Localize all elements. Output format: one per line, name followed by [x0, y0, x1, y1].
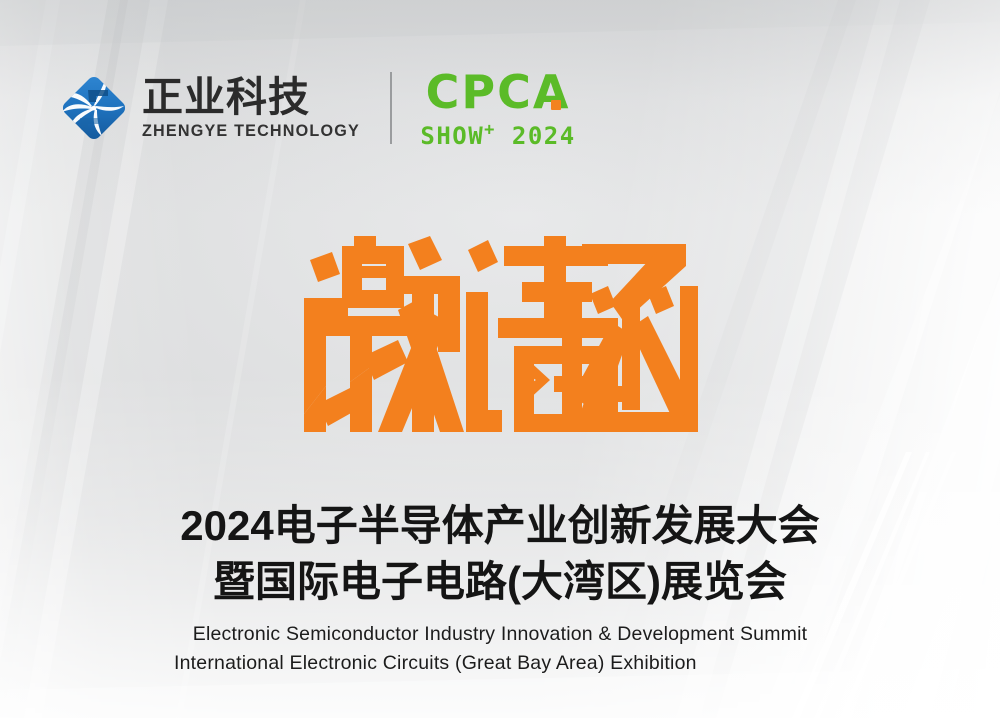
invitation-wordmark-icon [302, 236, 698, 432]
title-english-line2: International Electronic Circuits (Great… [0, 649, 1000, 678]
cpca-accent-dot-icon [551, 100, 561, 110]
cpca-main-text: CPCA [426, 68, 571, 116]
title-block: 2024电子半导体产业创新发展大会 暨国际电子电路(大湾区)展览会 Electr… [0, 500, 1000, 678]
title-english-line1: Electronic Semiconductor Industry Innova… [0, 620, 1000, 649]
cpca-year-label: 2024 [512, 122, 576, 150]
zhengye-wordmark: 正业科技 ZHENGYE TECHNOLOGY [142, 72, 364, 144]
zhengye-name-en: ZHENGYE TECHNOLOGY [142, 122, 360, 141]
hero-wordmark-invitation [0, 236, 1000, 432]
cpca-event-logo: CPCA SHOW+ 2024 [420, 70, 575, 146]
title-chinese-line2: 暨国际电子电路(大湾区)展览会 [0, 556, 1000, 608]
cpca-sub-text: SHOW+ 2024 [420, 117, 575, 149]
invitation-poster: 正业科技 ZHENGYE TECHNOLOGY CPCA SHOW+ 2024 [0, 0, 1000, 718]
zhengye-name-cn: 正业科技 [142, 75, 364, 119]
title-english-line1-text: Electronic Semiconductor Industry Innova… [193, 623, 808, 645]
cpca-show-label: SHOW [420, 122, 484, 150]
title-chinese-line1: 2024电子半导体产业创新发展大会 [0, 500, 1000, 552]
logo-row: 正业科技 ZHENGYE TECHNOLOGY CPCA SHOW+ 2024 [58, 62, 576, 154]
cpca-letters: CPCA [426, 65, 571, 119]
logo-divider [390, 72, 392, 144]
cpca-plus-icon: + [484, 120, 496, 140]
zhengye-swirl-diamond-logo-icon [58, 72, 130, 144]
title-english-line2-text: International Electronic Circuits (Great… [174, 649, 826, 678]
